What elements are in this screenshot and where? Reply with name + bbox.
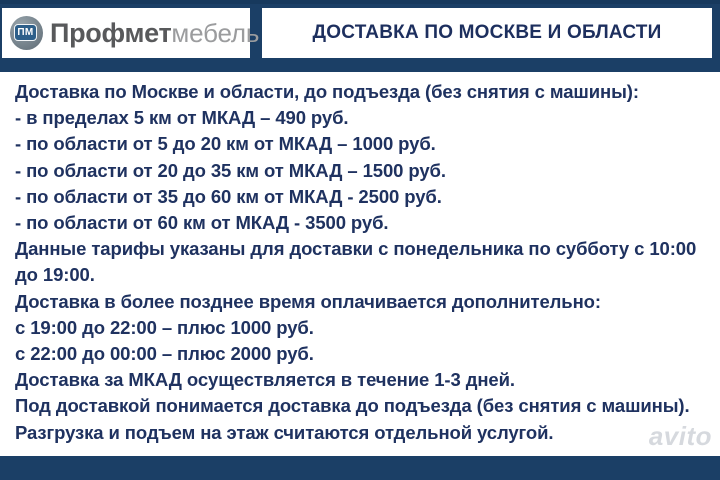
terms-line: с 22:00 до 00:00 – плюс 2000 руб.	[15, 341, 710, 367]
brand-name-secondary: мебель	[171, 18, 259, 48]
terms-line: - по области от 60 км от МКАД - 3500 руб…	[15, 210, 710, 236]
terms-line: Доставка за МКАД осуществляется в течени…	[15, 367, 710, 393]
footer-band	[0, 456, 720, 480]
terms-line: - по области от 5 до 20 км от МКАД – 100…	[15, 131, 710, 157]
delivery-info-card: ПМ Профметмебель ДОСТАВКА ПО МОСКВЕ И ОБ…	[0, 0, 720, 480]
terms-line: Доставка по Москве и области, до подъезд…	[15, 79, 710, 105]
page-title: ДОСТАВКА ПО МОСКВЕ И ОБЛАСТИ	[313, 22, 662, 44]
brand-name-primary: Профмет	[50, 18, 171, 48]
terms-line: - по области от 20 до 35 км от МКАД – 15…	[15, 158, 710, 184]
header-title-plate: ДОСТАВКА ПО МОСКВЕ И ОБЛАСТИ	[262, 8, 712, 58]
terms-line: - по области от 35 до 60 км от МКАД - 25…	[15, 184, 710, 210]
brand-wordmark: Профметмебель	[50, 20, 259, 47]
brand-logo-plate[interactable]: ПМ Профметмебель	[2, 8, 250, 58]
header-band: ПМ Профметмебель ДОСТАВКА ПО МОСКВЕ И ОБ…	[0, 0, 720, 66]
delivery-terms-body: Доставка по Москве и области, до подъезд…	[0, 72, 720, 456]
terms-line: Доставка в более позднее время оплачивае…	[15, 289, 710, 315]
terms-line: Под доставкой понимается доставка до под…	[15, 393, 710, 445]
logo-badge-text: ПМ	[14, 24, 37, 41]
pm-monogram-disc-icon: ПМ	[8, 15, 44, 51]
terms-line: с 19:00 до 22:00 – плюс 1000 руб.	[15, 315, 710, 341]
terms-line: - в пределах 5 км от МКАД – 490 руб.	[15, 105, 710, 131]
terms-line: Данные тарифы указаны для доставки с пон…	[15, 236, 710, 288]
